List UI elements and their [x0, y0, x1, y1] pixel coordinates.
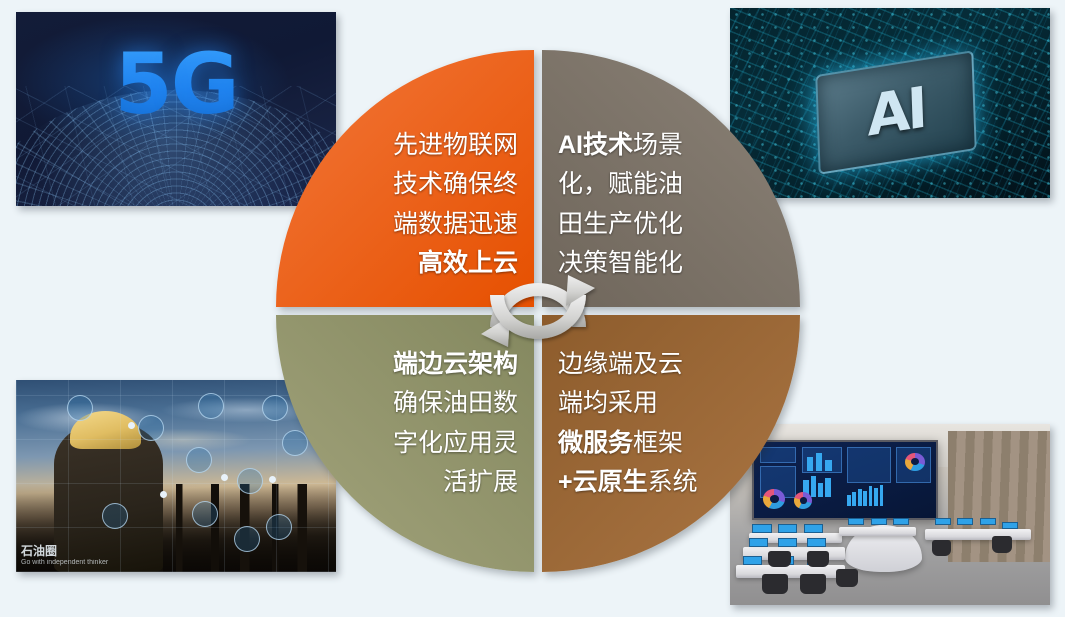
office-chair: [800, 574, 826, 594]
dashboard-bar: [825, 460, 831, 471]
iot-cloud-icon: [192, 501, 218, 527]
dashboard-donut-chart: [905, 453, 925, 471]
watermark-cn: 石油圈: [21, 544, 108, 559]
desk-monitor: [935, 518, 951, 525]
desk-monitor: [848, 518, 864, 525]
line-bold: +云原生: [558, 468, 648, 496]
line: 边缘端及云: [558, 345, 683, 385]
office-chair: [932, 540, 951, 556]
iot-flame-icon: [234, 526, 260, 552]
desk-monitor: [807, 538, 826, 547]
dashboard-bar: [874, 488, 878, 505]
quadrant-bottom-right[interactable]: 边缘端及云 端均采用 微服务框架 +云原生系统: [542, 315, 800, 572]
office-chair: [836, 569, 858, 587]
line: 端数据迅速: [393, 205, 518, 245]
quadrant-top-left[interactable]: 先进物联网 技术确保终 端数据迅速 高效上云: [276, 50, 534, 307]
line-tail: 系统: [648, 468, 698, 496]
line-tail: 场景: [633, 131, 683, 159]
photo-watermark: 石油圈 Go with independent thinker: [21, 544, 108, 568]
line-tail: 框架: [633, 429, 683, 457]
line-bold: 微服务: [558, 429, 633, 457]
office-chair: [762, 574, 788, 594]
desk-monitor: [893, 518, 909, 525]
line: 确保油田数: [393, 384, 518, 424]
slide-canvas: 5G AI 石油圈 Go with independe: [0, 0, 1065, 617]
iot-droplet-icon: [237, 468, 263, 494]
desk-monitor: [871, 518, 887, 525]
line-bold: 端边云架构: [393, 350, 518, 378]
watermark-en: Go with independent thinker: [21, 559, 108, 568]
quadrant-bottom-right-text: 边缘端及云 端均采用 微服务框架 +云原生系统: [542, 315, 800, 572]
dashboard-bar: [816, 453, 822, 471]
desk-monitor: [1002, 522, 1018, 529]
line: 端均采用: [558, 384, 658, 424]
quadrant-top-right[interactable]: AI技术场景 化，赋能油 田生产优化 决策智能化: [542, 50, 800, 307]
line: 田生产优化: [558, 205, 683, 245]
desk-monitor: [980, 518, 996, 525]
dashboard-bar: [858, 489, 862, 506]
dashboard-map-widget: [847, 447, 891, 483]
dashboard-bar: [863, 491, 867, 506]
dashboard-bar: [880, 485, 884, 506]
operator-desk: [839, 527, 916, 536]
quadrant-bottom-left-text: 端边云架构 确保油田数 字化应用灵 活扩展: [276, 315, 534, 572]
dashboard-bar: [818, 483, 823, 497]
office-chair: [992, 536, 1011, 552]
desk-monitor: [957, 518, 973, 525]
desk-monitor: [804, 524, 823, 533]
operator-desk: [925, 529, 1031, 540]
cycle-wheel: 先进物联网 技术确保终 端数据迅速 高效上云 AI技术场景 化，赋能油 田生产优…: [276, 50, 800, 572]
quadrant-top-right-text: AI技术场景 化，赋能油 田生产优化 决策智能化: [542, 50, 800, 307]
iot-recycle-icon: [138, 415, 164, 441]
office-chair: [807, 551, 829, 567]
dashboard-bar: [869, 486, 873, 506]
line: 化，赋能油: [558, 165, 683, 205]
dashboard-bar: [852, 492, 856, 506]
line-bold: AI技术: [558, 131, 633, 159]
quadrant-bottom-left[interactable]: 端边云架构 确保油田数 字化应用灵 活扩展: [276, 315, 534, 572]
dashboard-bar: [825, 478, 830, 497]
line: 活扩展: [443, 463, 518, 503]
iot-dot: [221, 474, 228, 481]
dashboard-bar: [847, 495, 851, 506]
line-bold: 高效上云: [418, 249, 518, 277]
dashboard-bar: [811, 476, 816, 497]
iot-dot: [269, 476, 276, 483]
quadrant-top-left-text: 先进物联网 技术确保终 端数据迅速 高效上云: [276, 50, 534, 307]
line: 技术确保终: [393, 165, 518, 205]
line: 字化应用灵: [393, 424, 518, 464]
dashboard-bar: [807, 457, 813, 471]
line: 决策智能化: [558, 244, 683, 284]
iot-pump-icon: [186, 447, 212, 473]
line: 先进物联网: [393, 126, 518, 166]
